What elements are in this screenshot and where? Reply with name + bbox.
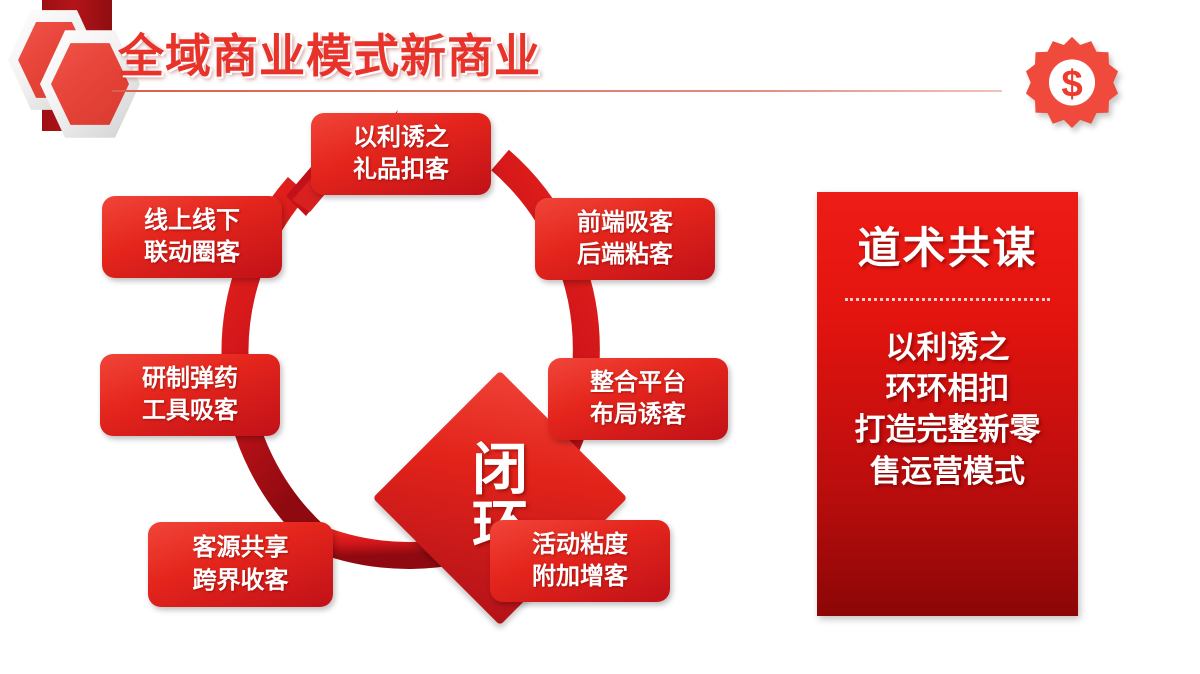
summary-panel: 道术共谋 以利诱之 环环相扣 打造完整新零 售运营模式 — [817, 192, 1078, 616]
node-line2: 跨界收客 — [193, 565, 289, 597]
summary-line: 售运营模式 — [855, 451, 1041, 492]
slide-canvas: 全域商业模式新商业 $ — [0, 0, 1200, 674]
node-line1: 以利诱之 — [353, 122, 449, 154]
node-line1: 线上线下 — [144, 205, 240, 237]
header-divider-rule — [112, 90, 1002, 92]
node-line1: 客源共享 — [193, 532, 289, 564]
node-line1: 前端吸客 — [577, 207, 673, 239]
cycle-node-lower-left[interactable]: 客源共享 跨界收客 — [148, 522, 333, 607]
cycle-node-left[interactable]: 研制弹药 工具吸客 — [100, 354, 280, 436]
page-title: 全域商业模式新商业 — [118, 20, 541, 86]
node-line1: 活动粘度 — [532, 529, 628, 561]
node-line1: 研制弹药 — [142, 363, 238, 395]
cycle-diagram: 闭 环 以利诱之 礼品扣客 前端吸客 后端粘客 整合平台 布局诱客 活动粘度 附… — [80, 100, 760, 660]
cycle-node-lower-right[interactable]: 活动粘度 附加增客 — [490, 520, 670, 602]
node-line2: 布局诱客 — [590, 399, 686, 431]
cycle-node-top[interactable]: 以利诱之 礼品扣客 — [311, 113, 491, 195]
node-line1: 整合平台 — [590, 367, 686, 399]
node-line2: 附加增客 — [532, 561, 628, 593]
summary-line: 打造完整新零 — [855, 409, 1041, 450]
cycle-node-upper-right[interactable]: 前端吸客 后端粘客 — [535, 198, 715, 280]
node-line2: 联动圈客 — [144, 237, 240, 269]
summary-line: 以利诱之 — [855, 327, 1041, 368]
summary-panel-title: 道术共谋 — [858, 214, 1038, 276]
center-label-line1: 闭 — [472, 441, 528, 498]
cycle-node-right[interactable]: 整合平台 布局诱客 — [548, 358, 728, 440]
summary-line: 环环相扣 — [855, 368, 1041, 409]
gear-dollar-icon: $ — [1024, 33, 1120, 129]
node-line2: 礼品扣客 — [353, 154, 449, 186]
node-line2: 工具吸客 — [142, 395, 238, 427]
summary-panel-body: 以利诱之 环环相扣 打造完整新零 售运营模式 — [855, 327, 1041, 492]
summary-panel-divider — [845, 298, 1050, 301]
gear-dollar-symbol: $ — [1061, 62, 1082, 105]
node-line2: 后端粘客 — [577, 239, 673, 271]
cycle-node-upper-left[interactable]: 线上线下 联动圈客 — [102, 196, 282, 278]
